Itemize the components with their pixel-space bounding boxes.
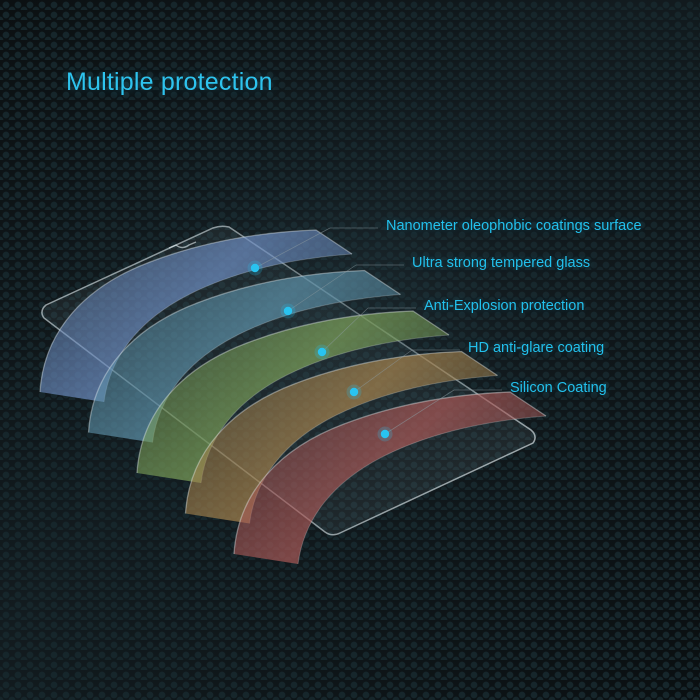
layer-label-1: Nanometer oleophobic coatings surface [386, 218, 642, 234]
anchor-dot-4 [350, 388, 358, 396]
layer-label-4: HD anti-glare coating [468, 340, 604, 356]
layer-label-5: Silicon Coating [510, 380, 607, 396]
peeling-layers [40, 230, 546, 564]
anchor-dot-3 [318, 348, 326, 356]
page-title: Multiple protection [66, 68, 273, 97]
layer-label-2: Ultra strong tempered glass [412, 255, 590, 271]
anchor-dot-2 [284, 307, 292, 315]
layer-label-3: Anti-Explosion protection [424, 298, 584, 314]
anchor-dot-1 [251, 264, 259, 272]
anchor-dot-5 [381, 430, 389, 438]
product-illustration: Multiple protection Nanometer oleophobic… [0, 0, 700, 700]
